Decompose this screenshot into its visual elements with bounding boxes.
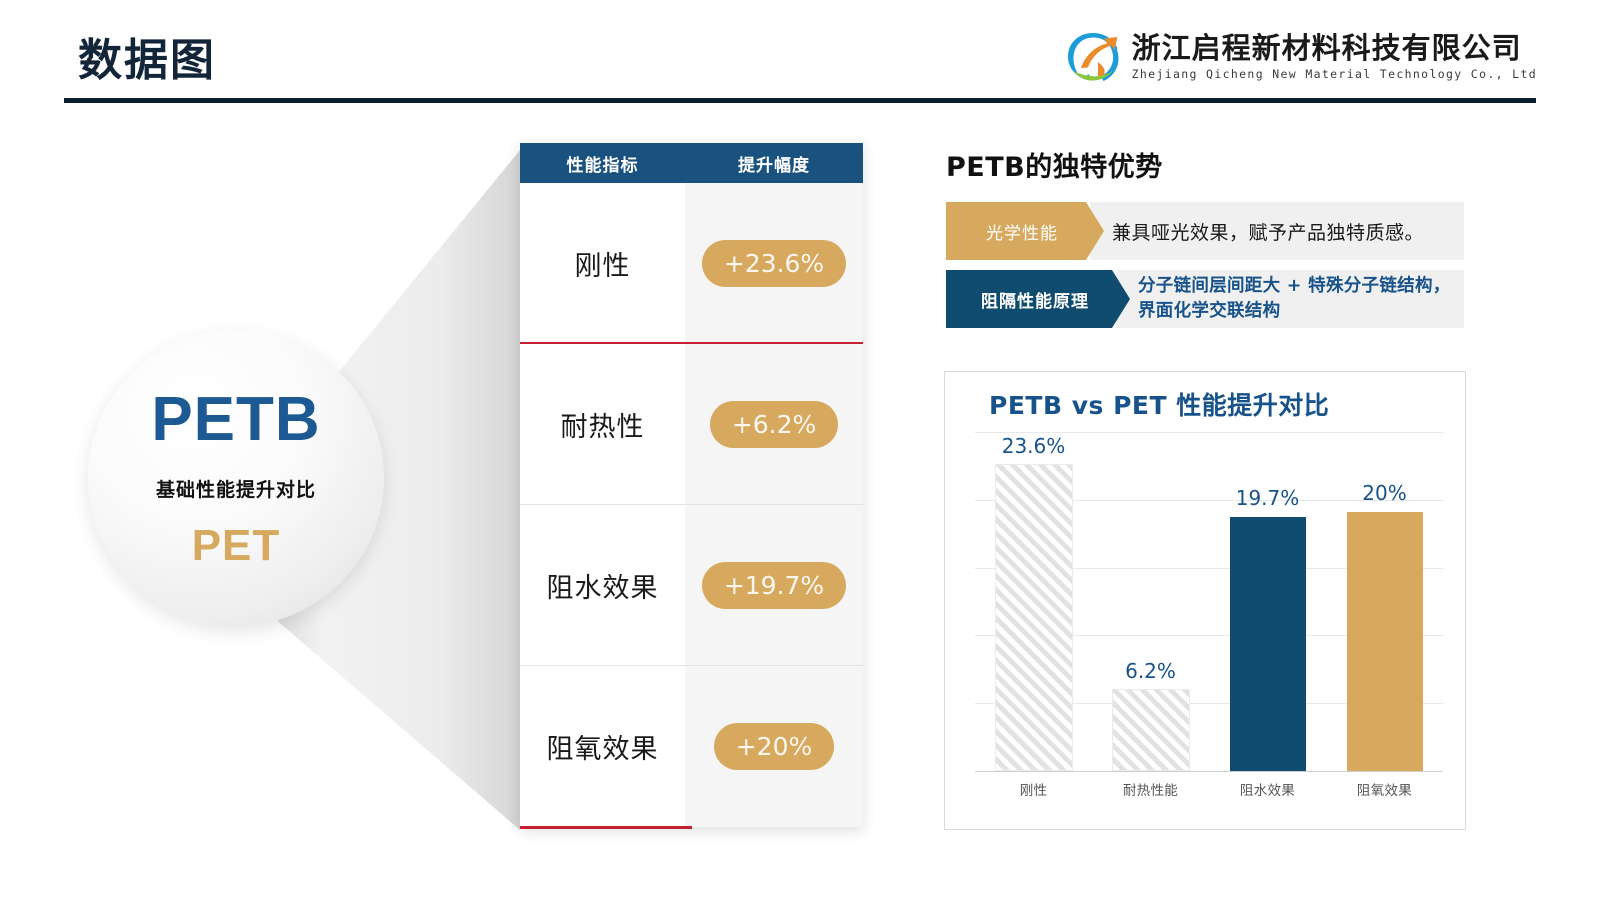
slide-canvas: 数据图 浙江启程新材料科技有限公司 Zhejiang Qicheng New M…	[0, 0, 1600, 899]
company-name-en: Zhejiang Qicheng New Material Technology…	[1132, 67, 1537, 82]
table-header-value: 提升幅度	[685, 143, 863, 183]
metric-label: 耐热性	[561, 405, 645, 444]
table-cell-metric: 阻水效果	[520, 505, 685, 666]
bar-heat-resistance[interactable]: 6.2%	[1112, 689, 1190, 771]
advantage-body: 分子链间层间距大 + 特殊分子链结构，界面化学交联结构	[1116, 270, 1464, 328]
table-row[interactable]: 阻水效果 +19.7%	[520, 505, 863, 666]
comparison-bar-chart: PETB vs PET 性能提升对比 23.6% 6.2%	[944, 371, 1466, 830]
table-cell-metric: 阻氧效果	[520, 666, 685, 827]
table-header-row: 性能指标 提升幅度	[520, 143, 863, 183]
metric-label: 阻氧效果	[547, 727, 659, 766]
chart-title: PETB vs PET 性能提升对比	[989, 386, 1329, 422]
value-badge: +23.6%	[702, 240, 846, 287]
qicheng-q-arrow-logo-icon	[1060, 24, 1126, 90]
advantage-label-chevron: 阻隔性能原理	[946, 270, 1130, 328]
table-row[interactable]: 耐热性 +6.2%	[520, 344, 863, 505]
circle-caption: 基础性能提升对比	[156, 475, 316, 502]
chart-x-axis: 刚性 耐热性能 阻水效果 阻氧效果	[975, 779, 1443, 809]
bar-value-label: 19.7%	[1236, 486, 1300, 510]
circle-primary-label: PETB	[151, 389, 320, 451]
table-cell-metric: 耐热性	[520, 344, 685, 505]
advantages-title: PETB的独特优势	[946, 145, 1163, 184]
advantage-row-barrier[interactable]: 阻隔性能原理 分子链间层间距大 + 特殊分子链结构，界面化学交联结构	[946, 270, 1464, 328]
bar-group: 23.6%	[996, 432, 1072, 771]
bar-group: 19.7%	[1230, 432, 1306, 771]
bar-oxygen-barrier[interactable]: 20%	[1347, 512, 1423, 771]
advantage-label-chevron: 光学性能	[946, 202, 1104, 260]
metric-label: 阻水效果	[547, 566, 659, 605]
company-logo: 浙江启程新材料科技有限公司 Zhejiang Qicheng New Mater…	[1060, 22, 1537, 92]
value-badge: +19.7%	[702, 562, 846, 609]
company-name-cn: 浙江启程新材料科技有限公司	[1132, 32, 1537, 64]
table-row[interactable]: 刚性 +23.6%	[520, 183, 863, 344]
bar-water-barrier[interactable]: 19.7%	[1230, 517, 1306, 771]
bar-stiffness[interactable]: 23.6%	[995, 464, 1073, 771]
table-cell-value: +19.7%	[685, 505, 863, 666]
table-cell-value: +20%	[685, 666, 863, 827]
value-badge: +20%	[714, 723, 835, 770]
bar-group: 6.2%	[1113, 432, 1189, 771]
bar-value-label: 23.6%	[1002, 434, 1066, 458]
table-header-metric: 性能指标	[520, 143, 685, 183]
table-cell-value: +23.6%	[685, 183, 863, 344]
table-row[interactable]: 阻氧效果 +20%	[520, 666, 863, 827]
advantage-row-optical[interactable]: 光学性能 兼具哑光效果，赋予产品独特质感。	[946, 202, 1464, 260]
table-cell-metric: 刚性	[520, 183, 685, 344]
table-bottom-accent	[520, 826, 692, 829]
advantage-text: 分子链间层间距大 + 特殊分子链结构，界面化学交联结构	[1138, 274, 1454, 324]
performance-table: 性能指标 提升幅度 刚性 +23.6% 耐热性 +6.2%	[520, 143, 863, 827]
table-body: 刚性 +23.6% 耐热性 +6.2% 阻水效果 +19.7%	[520, 183, 863, 827]
page-title: 数据图	[78, 24, 216, 88]
advantage-body: 兼具哑光效果，赋予产品独特质感。	[1090, 202, 1464, 260]
x-tick-label: 阻水效果	[1230, 779, 1306, 799]
chart-plot-area: 23.6% 6.2% 19.7% 20%	[975, 432, 1443, 771]
circle-secondary-label: PET	[192, 524, 281, 568]
petb-summary-circle: PETB 基础性能提升对比 PET	[88, 330, 384, 626]
table-cell-value: +6.2%	[685, 344, 863, 505]
x-tick-label: 刚性	[996, 779, 1072, 799]
advantage-text: 兼具哑光效果，赋予产品独特质感。	[1112, 218, 1424, 245]
axis-baseline	[975, 771, 1443, 772]
bar-group: 20%	[1347, 432, 1423, 771]
header-divider	[64, 98, 1536, 103]
metric-label: 刚性	[575, 244, 631, 283]
logo-text-block: 浙江启程新材料科技有限公司 Zhejiang Qicheng New Mater…	[1132, 32, 1537, 81]
x-tick-label: 耐热性能	[1113, 779, 1189, 799]
x-tick-label: 阻氧效果	[1347, 779, 1423, 799]
bar-value-label: 6.2%	[1125, 659, 1176, 683]
bar-value-label: 20%	[1362, 481, 1406, 505]
value-badge: +6.2%	[710, 401, 838, 448]
chart-bars: 23.6% 6.2% 19.7% 20%	[975, 432, 1443, 771]
